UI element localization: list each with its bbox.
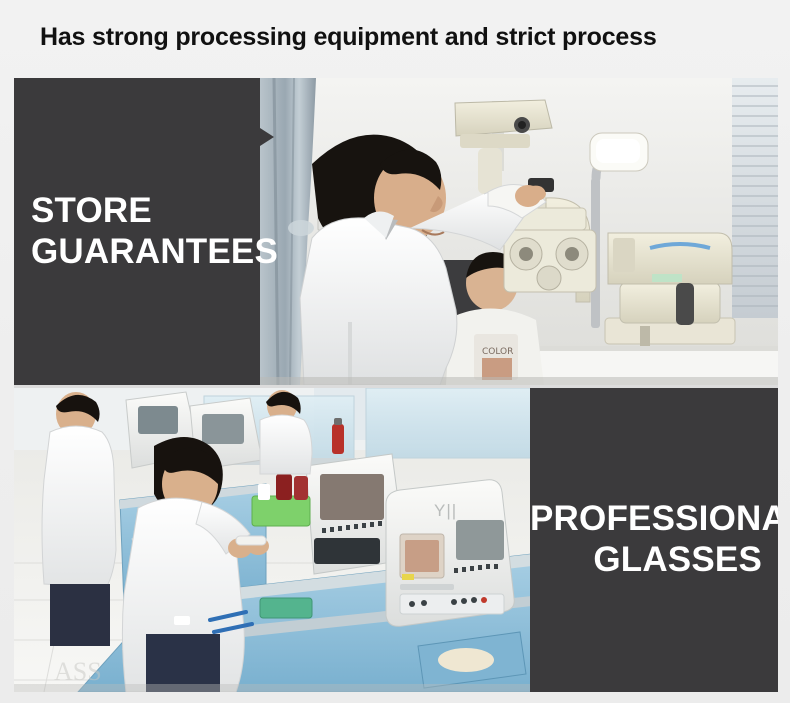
- caption-line-1: Store: [31, 191, 152, 230]
- collage-row-bottom: Y||: [14, 388, 778, 692]
- panel-notch-arrow-icon: [260, 128, 274, 146]
- header-banner: Has strong processing equipment and stri…: [0, 0, 790, 74]
- professional-glasses-caption: Professional Glasses: [530, 499, 778, 580]
- svg-text:ASS: ASS: [54, 657, 102, 686]
- page-background: Has strong processing equipment and stri…: [0, 0, 790, 703]
- svg-text:Y||: Y||: [434, 501, 457, 520]
- store-guarantees-caption: Store Guarantees: [14, 191, 260, 272]
- image-collage: COLOR: [14, 78, 778, 692]
- caption-line-2: Glasses: [530, 540, 762, 581]
- caption-line-1: Professional: [530, 499, 778, 538]
- optometry-eye-exam-photo: COLOR: [260, 78, 778, 385]
- collage-row-top: COLOR: [14, 78, 778, 385]
- page-title: Has strong processing equipment and stri…: [40, 23, 657, 52]
- store-guarantees-panel: Store Guarantees: [14, 78, 260, 385]
- caption-line-2: Guarantees: [31, 232, 260, 273]
- lens-edging-workshop-photo: Y||: [14, 388, 532, 692]
- professional-glasses-panel: Professional Glasses: [530, 388, 778, 692]
- svg-text:COLOR: COLOR: [482, 347, 513, 357]
